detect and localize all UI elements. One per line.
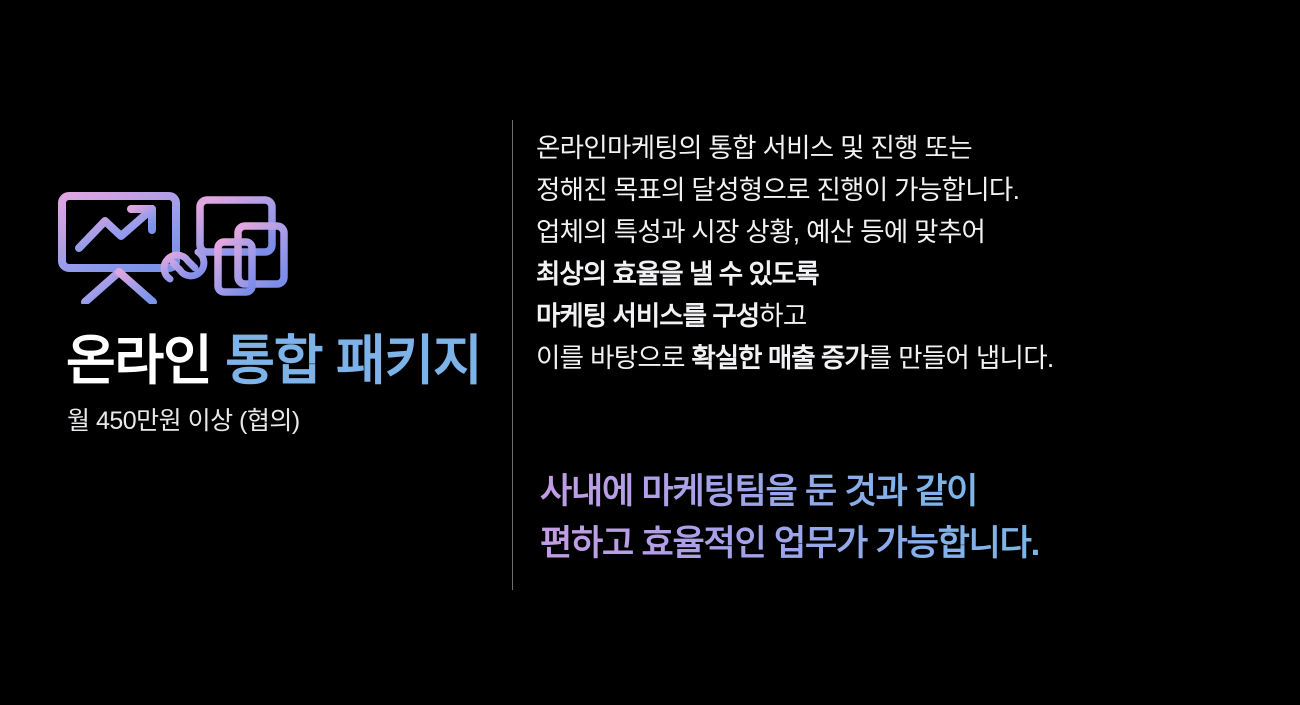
- description-line: 마케팅 서비스를 구성하고: [536, 295, 1256, 337]
- highlight-line: 편하고 효율적인 업무가 가능합니다.: [540, 518, 1039, 570]
- description-text: 온라인마케팅의 통합 서비스 및 진행 또는: [536, 133, 972, 163]
- online-integrated-package-icon: [52, 176, 298, 304]
- highlight-statement: 사내에 마케팅팀을 둔 것과 같이편하고 효율적인 업무가 가능합니다.: [540, 466, 1240, 570]
- description-emphasis: 최상의 효율을 낼 수 있도록: [536, 259, 819, 289]
- left-panel: 온라인 통합 패키지 월 450만원 이상 (협의): [0, 0, 512, 705]
- description-line: 온라인마케팅의 통합 서비스 및 진행 또는: [536, 127, 1256, 169]
- description-text: 이를 바탕으로: [536, 343, 691, 373]
- vertical-divider: [512, 120, 513, 590]
- page-title: 온라인 통합 패키지: [66, 333, 481, 390]
- description-emphasis: 확실한 매출 증가: [691, 343, 867, 373]
- page-title-primary: 온라인: [66, 331, 211, 391]
- right-panel: 온라인마케팅의 통합 서비스 및 진행 또는정해진 목표의 달성형으로 진행이 …: [536, 0, 1276, 705]
- page-title-accent: 통합 패키지: [211, 331, 481, 391]
- description-text: 정해진 목표의 달성형으로 진행이 가능합니다.: [536, 175, 1019, 205]
- description-line: 업체의 특성과 시장 상황, 예산 등에 맞추어: [536, 211, 1256, 253]
- description-text: 하고: [759, 301, 806, 331]
- description-text: 를 만들어 냅니다.: [868, 343, 1054, 373]
- highlight-line: 사내에 마케팅팀을 둔 것과 같이: [540, 466, 977, 518]
- promo-slide: 온라인 통합 패키지 월 450만원 이상 (협의) 온라인마케팅의 통합 서비…: [0, 0, 1300, 705]
- description-emphasis: 마케팅 서비스를 구성: [536, 301, 759, 331]
- description-line: 이를 바탕으로 확실한 매출 증가를 만들어 냅니다.: [536, 337, 1256, 379]
- description-line: 정해진 목표의 달성형으로 진행이 가능합니다.: [536, 169, 1256, 211]
- package-price-label: 월 450만원 이상 (협의): [67, 405, 300, 438]
- description-line: 최상의 효율을 낼 수 있도록: [536, 253, 1256, 295]
- service-description: 온라인마케팅의 통합 서비스 및 진행 또는정해진 목표의 달성형으로 진행이 …: [536, 127, 1256, 379]
- description-text: 업체의 특성과 시장 상황, 예산 등에 맞추어: [536, 217, 985, 247]
